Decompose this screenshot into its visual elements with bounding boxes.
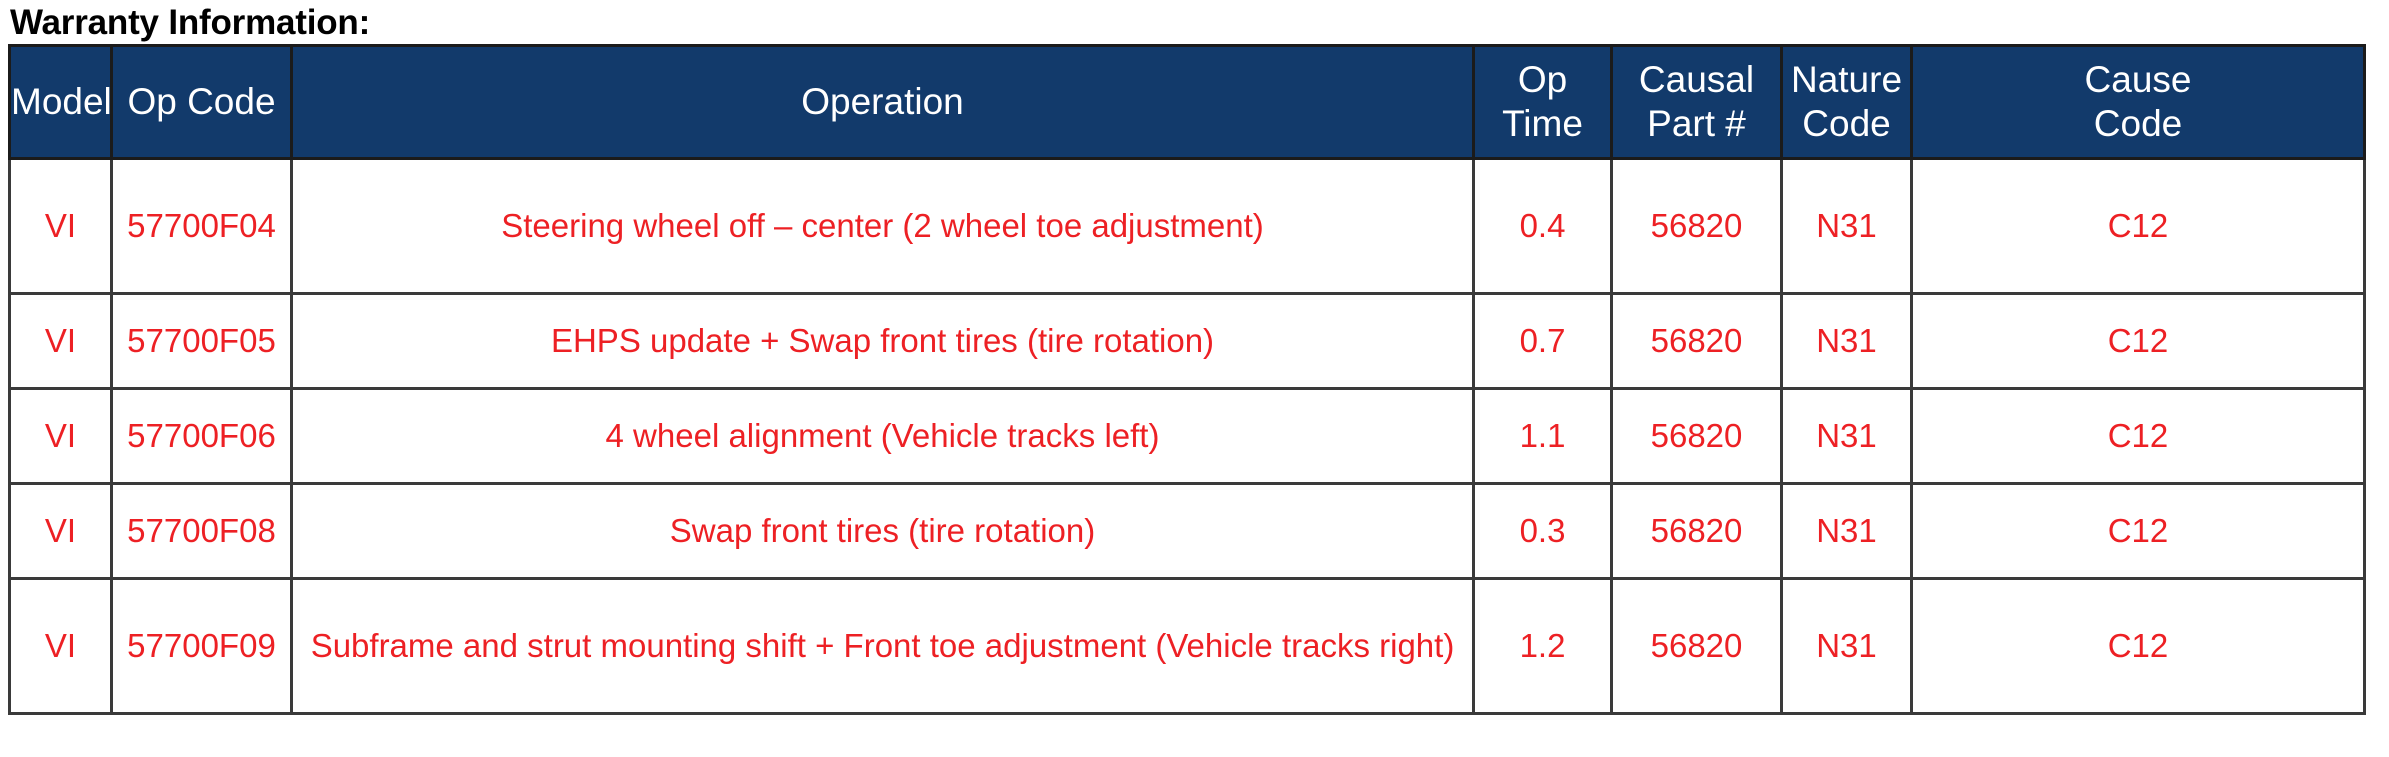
- table-body: VI 57700F04 Steering wheel off – center …: [10, 159, 2365, 714]
- cell-op-code: 57700F09: [112, 579, 292, 714]
- column-header-causal-part: Causal Part #: [1612, 46, 1782, 159]
- column-header-causal-part-label-line2: Part #: [1613, 102, 1780, 146]
- column-header-op-time: Op Time: [1474, 46, 1612, 159]
- column-header-nature-code-label-line1: Nature: [1783, 58, 1910, 102]
- cell-cause-code: C12: [1912, 484, 2365, 579]
- cell-nature-code: N31: [1782, 159, 1912, 294]
- column-header-model: Model: [10, 46, 112, 159]
- cell-cause-code: C12: [1912, 294, 2365, 389]
- warranty-information-page: Warranty Information: Model Op Code Oper…: [0, 0, 2389, 757]
- column-header-operation: Operation: [292, 46, 1474, 159]
- page-title: Warranty Information:: [10, 2, 370, 44]
- column-header-nature-code: Nature Code: [1782, 46, 1912, 159]
- cell-cause-code: C12: [1912, 389, 2365, 484]
- column-header-model-label: Model: [11, 80, 110, 124]
- cell-nature-code: N31: [1782, 294, 1912, 389]
- column-header-cause-code-label-line2: Code: [1913, 102, 2363, 146]
- column-header-op-code: Op Code: [112, 46, 292, 159]
- cell-model: VI: [10, 484, 112, 579]
- cell-op-time: 0.7: [1474, 294, 1612, 389]
- cell-op-time: 0.4: [1474, 159, 1612, 294]
- table-header-row: Model Op Code Operation Op Time Causal P…: [10, 46, 2365, 159]
- cell-causal-part: 56820: [1612, 389, 1782, 484]
- cell-causal-part: 56820: [1612, 484, 1782, 579]
- table-row: VI 57700F05 EHPS update + Swap front tir…: [10, 294, 2365, 389]
- cell-causal-part: 56820: [1612, 159, 1782, 294]
- cell-op-time: 1.2: [1474, 579, 1612, 714]
- column-header-operation-label: Operation: [293, 80, 1472, 124]
- cell-op-time: 0.3: [1474, 484, 1612, 579]
- table-header: Model Op Code Operation Op Time Causal P…: [10, 46, 2365, 159]
- column-header-cause-code: Cause Code: [1912, 46, 2365, 159]
- cell-model: VI: [10, 579, 112, 714]
- cell-operation: 4 wheel alignment (Vehicle tracks left): [292, 389, 1474, 484]
- table-row: VI 57700F06 4 wheel alignment (Vehicle t…: [10, 389, 2365, 484]
- cell-op-code: 57700F05: [112, 294, 292, 389]
- column-header-cause-code-label-line1: Cause: [1913, 58, 2363, 102]
- cell-operation: Steering wheel off – center (2 wheel toe…: [292, 159, 1474, 294]
- table-row: VI 57700F09 Subframe and strut mounting …: [10, 579, 2365, 714]
- cell-cause-code: C12: [1912, 579, 2365, 714]
- cell-nature-code: N31: [1782, 579, 1912, 714]
- column-header-op-time-label-line1: Op: [1475, 58, 1610, 102]
- column-header-causal-part-label-line1: Causal: [1613, 58, 1780, 102]
- column-header-nature-code-label-line2: Code: [1783, 102, 1910, 146]
- cell-model: VI: [10, 389, 112, 484]
- cell-causal-part: 56820: [1612, 579, 1782, 714]
- warranty-information-table: Model Op Code Operation Op Time Causal P…: [8, 44, 2366, 715]
- cell-model: VI: [10, 159, 112, 294]
- cell-model: VI: [10, 294, 112, 389]
- cell-operation: Subframe and strut mounting shift + Fron…: [292, 579, 1474, 714]
- cell-causal-part: 56820: [1612, 294, 1782, 389]
- cell-nature-code: N31: [1782, 484, 1912, 579]
- cell-op-code: 57700F04: [112, 159, 292, 294]
- cell-op-code: 57700F06: [112, 389, 292, 484]
- table-row: VI 57700F04 Steering wheel off – center …: [10, 159, 2365, 294]
- cell-nature-code: N31: [1782, 389, 1912, 484]
- cell-cause-code: C12: [1912, 159, 2365, 294]
- column-header-op-code-label: Op Code: [113, 80, 290, 124]
- cell-operation: Swap front tires (tire rotation): [292, 484, 1474, 579]
- cell-op-code: 57700F08: [112, 484, 292, 579]
- cell-op-time: 1.1: [1474, 389, 1612, 484]
- column-header-op-time-label-line2: Time: [1475, 102, 1610, 146]
- cell-operation: EHPS update + Swap front tires (tire rot…: [292, 294, 1474, 389]
- table-row: VI 57700F08 Swap front tires (tire rotat…: [10, 484, 2365, 579]
